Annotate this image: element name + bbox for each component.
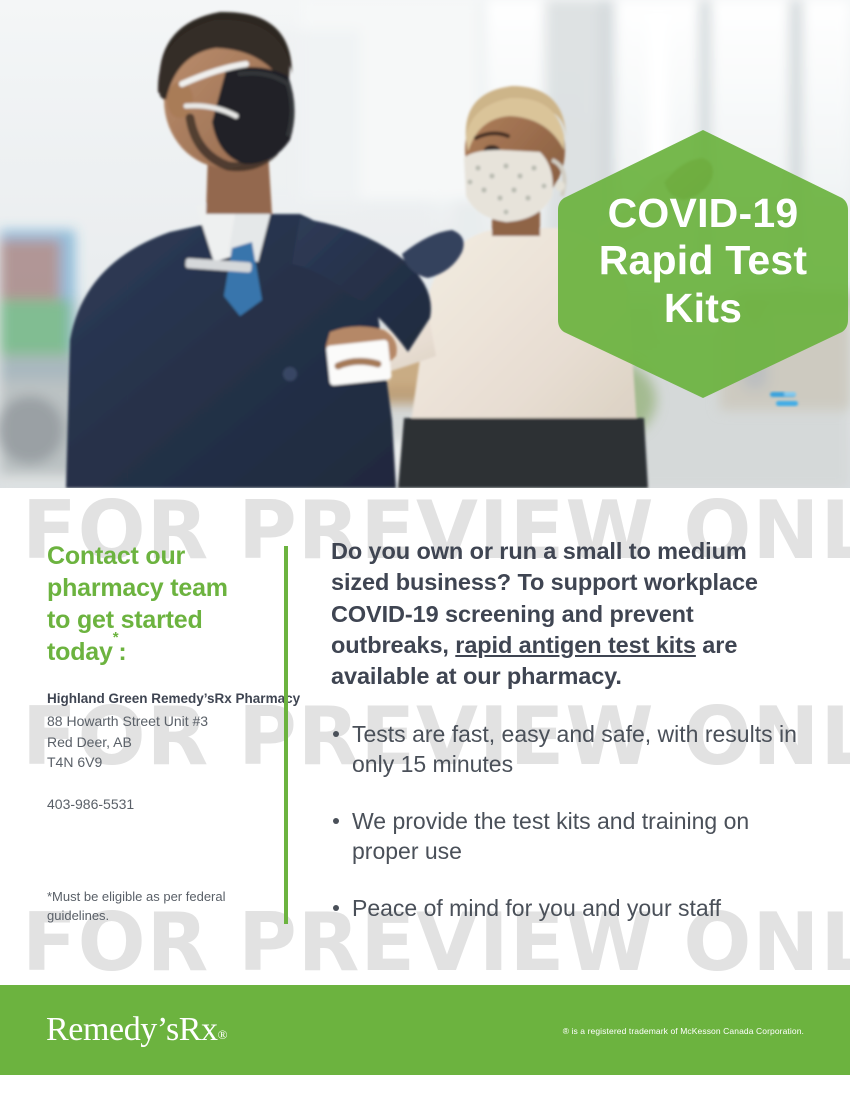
bullet-text: Peace of mind for you and your staff (352, 895, 721, 921)
badge-text: COVID-19 Rapid Test Kits (599, 190, 808, 339)
vertical-divider (284, 546, 288, 924)
address-line-1: 88 Howarth Street Unit #3 (47, 711, 275, 732)
contact-heading-line-1: Contact our (47, 540, 275, 572)
contact-heading-line-3: to get started (47, 604, 275, 636)
footer-bar: Remedy’sRx® ® is a registered trademark … (0, 985, 850, 1075)
badge-line-3: Kits (599, 285, 808, 333)
address-line-3: T4N 6V9 (47, 752, 275, 773)
remedysrx-logo: Remedy’sRx® (46, 1011, 227, 1049)
bullet-text: Tests are fast, easy and safe, with resu… (352, 721, 797, 776)
body-column: Do you own or run a small to medium size… (331, 536, 811, 951)
list-item: Tests are fast, easy and safe, with resu… (331, 720, 811, 779)
eligibility-footnote: *Must be eligible as per federal guideli… (47, 888, 257, 926)
contact-heading-colon: : (118, 638, 126, 666)
badge-line-1: COVID-19 (599, 190, 808, 238)
bullet-dot-icon (333, 818, 339, 824)
contact-column: Contact our pharmacy team to get started… (47, 540, 275, 815)
asterisk-marker: * (113, 629, 119, 646)
address-line-2: Red Deer, AB (47, 732, 275, 753)
flyer-page: COVID-19 Rapid Test Kits FOR PREVIEW ONL… (0, 0, 850, 1100)
pharmacy-name: Highland Green Remedy’sRx Pharmacy (47, 690, 275, 709)
bullet-dot-icon (333, 731, 339, 737)
bullet-text: We provide the test kits and training on… (352, 808, 749, 863)
intro-paragraph: Do you own or run a small to medium size… (331, 536, 811, 692)
bottom-white-strip (0, 1075, 850, 1100)
badge-line-2: Rapid Test (599, 237, 808, 285)
covid-test-kits-badge: COVID-19 Rapid Test Kits (556, 128, 850, 400)
list-item: Peace of mind for you and your staff (331, 894, 811, 923)
benefits-list: Tests are fast, easy and safe, with resu… (331, 720, 811, 923)
contact-heading-line-2: pharmacy team (47, 572, 275, 604)
contact-heading: Contact our pharmacy team to get started… (47, 540, 275, 668)
phone-number[interactable]: 403-986-5531 (47, 795, 275, 815)
content-area: Contact our pharmacy team to get started… (0, 488, 850, 985)
contact-heading-word-today: today (47, 638, 113, 666)
contact-heading-line-4: today*: (47, 636, 275, 668)
registered-trademark-icon: ® (218, 1027, 227, 1042)
intro-underlined-phrase: rapid antigen test kits (455, 632, 696, 658)
list-item: We provide the test kits and training on… (331, 807, 811, 866)
bullet-dot-icon (333, 905, 339, 911)
logo-wordmark: Remedy’sRx (46, 1011, 218, 1048)
trademark-notice: ® is a registered trademark of McKesson … (563, 1026, 804, 1036)
hero-photo: COVID-19 Rapid Test Kits (0, 0, 850, 488)
